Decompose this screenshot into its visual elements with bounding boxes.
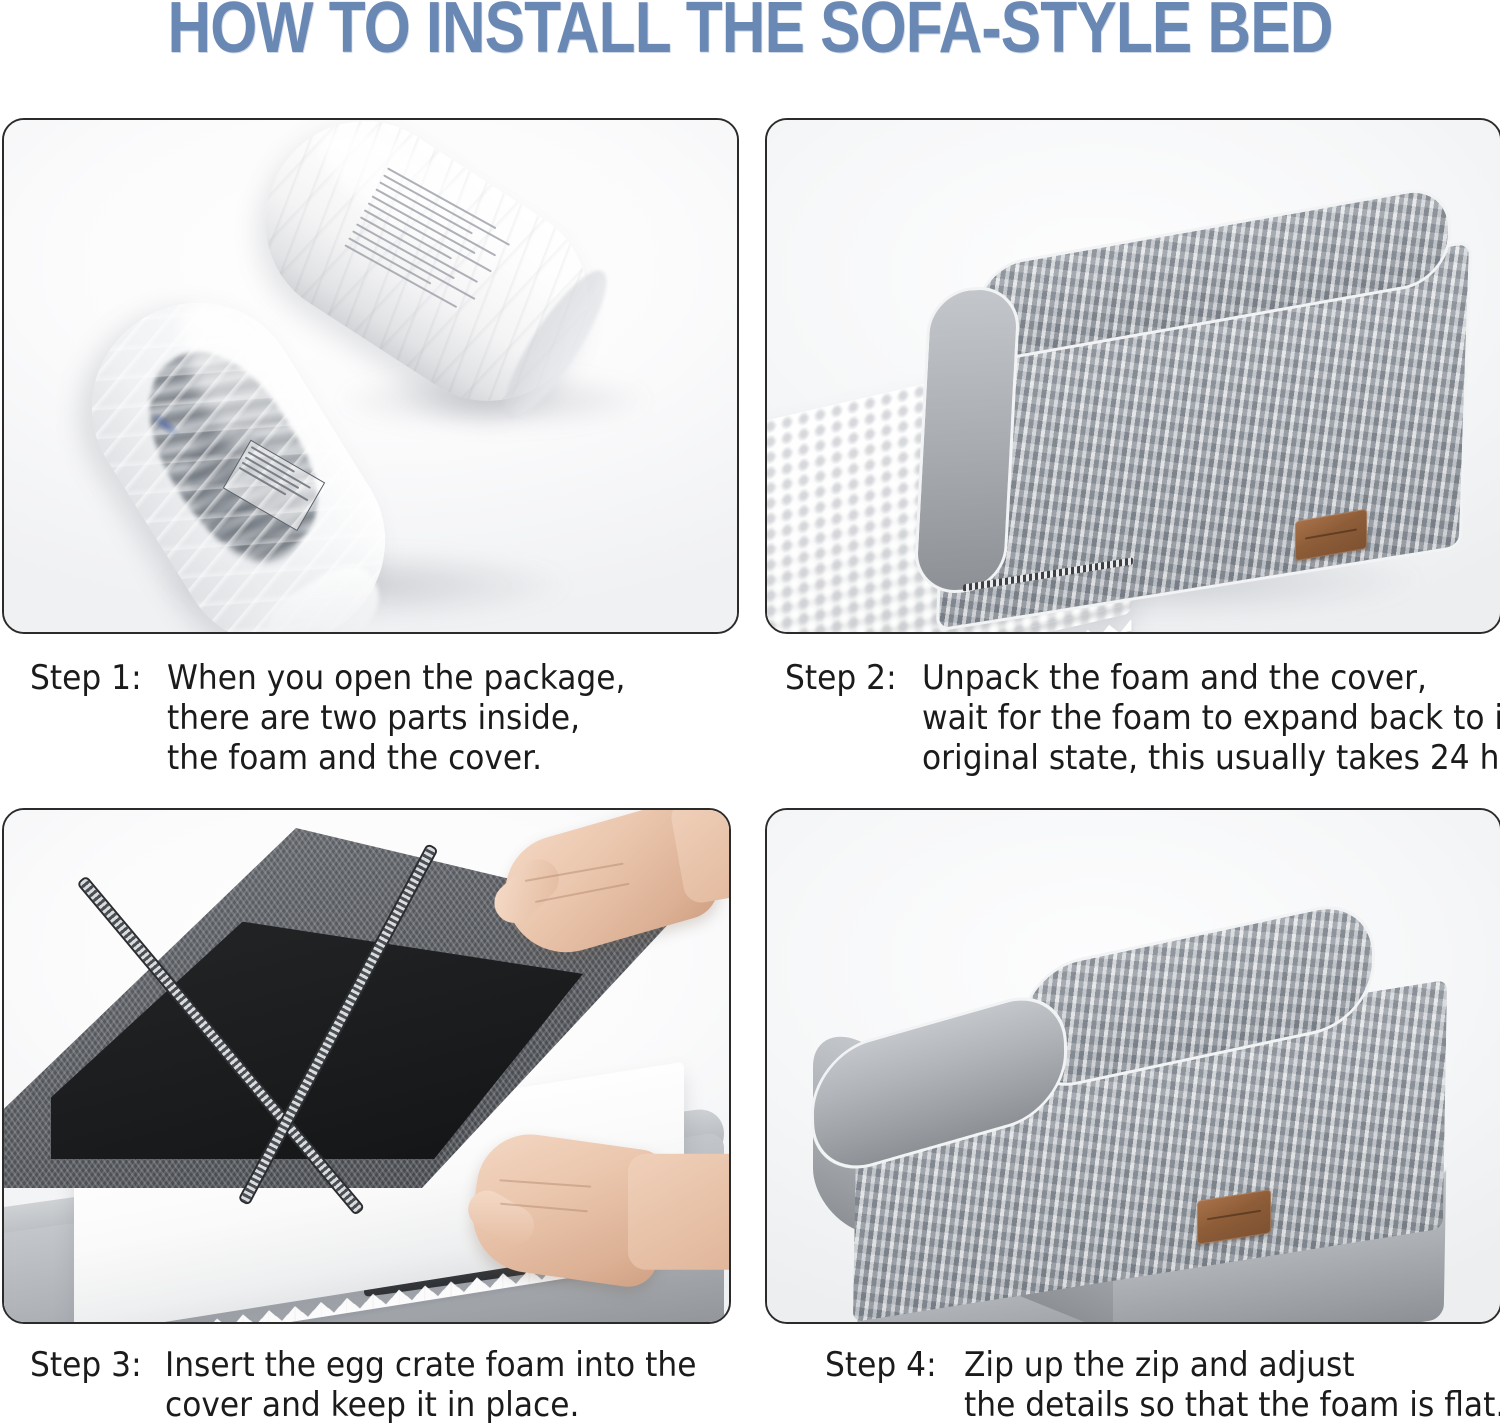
sofa-bed-cover (915, 215, 1475, 595)
page-title: HOW TO INSTALL THE SOFA-STYLE BED (120, 0, 1380, 66)
caption-line: Insert the egg crate foam into the (165, 1345, 696, 1385)
step-4-label: Step 4: (825, 1345, 937, 1385)
step-2-image-panel (765, 118, 1500, 634)
caption-line: wait for the foam to expand back to its (922, 698, 1500, 738)
step-1-text: When you open the package, there are two… (167, 658, 625, 778)
step-3-photo (4, 810, 729, 1322)
finished-sofa-bed (797, 915, 1487, 1305)
step-2-text: Unpack the foam and the cover, wait for … (922, 658, 1500, 778)
step-1-caption: Step 1: When you open the package, there… (30, 658, 666, 778)
caption-line: Zip up the zip and adjust (964, 1345, 1500, 1385)
infographic-page: HOW TO INSTALL THE SOFA-STYLE BED (0, 0, 1500, 1422)
forearm (669, 810, 729, 905)
caption-line: the foam and the cover. (167, 738, 625, 778)
step-3-text: Insert the egg crate foam into the cover… (165, 1345, 696, 1425)
step-4-photo (767, 810, 1500, 1322)
step-4-caption: Step 4: Zip up the zip and adjust the de… (825, 1345, 1500, 1425)
caption-line: there are two parts inside, (167, 698, 625, 738)
step-1-photo (4, 120, 737, 632)
step-1-label: Step 1: (30, 658, 142, 698)
caption-line: original state, this usually takes 24 ho… (922, 738, 1500, 778)
caption-line: cover and keep it in place. (165, 1385, 696, 1425)
forearm (628, 1154, 729, 1270)
step-3-caption: Step 3: Insert the egg crate foam into t… (30, 1345, 743, 1425)
step-2-caption: Step 2: Unpack the foam and the cover, w… (785, 658, 1500, 778)
caption-line: When you open the package, (167, 658, 625, 698)
step-4-image-panel (765, 808, 1500, 1324)
step-2-label: Step 2: (785, 658, 897, 698)
caption-line: Unpack the foam and the cover, (922, 658, 1500, 698)
step-4-text: Zip up the zip and adjust the details so… (964, 1345, 1500, 1425)
step-3-image-panel (2, 808, 731, 1324)
step-3-label: Step 3: (30, 1345, 142, 1385)
step-2-photo (767, 120, 1500, 632)
caption-line: the details so that the foam is flat. (964, 1385, 1500, 1425)
step-1-image-panel (2, 118, 739, 634)
side-bolster (913, 285, 1021, 595)
